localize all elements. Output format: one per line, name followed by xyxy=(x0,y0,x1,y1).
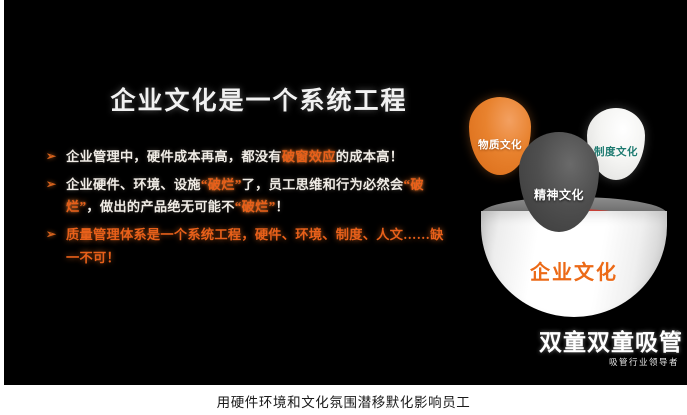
arrow-icon: ➢ xyxy=(46,176,56,193)
bullet-highlight: 破窗效应 xyxy=(282,149,336,164)
bullet-text-segment: ！ xyxy=(276,199,290,214)
arrow-icon: ➢ xyxy=(46,148,56,165)
bullet-text-segment: 企业管理中，硬件成本再高，都没有 xyxy=(66,149,282,164)
brand-logo: 双童双童吸管 ® 吸管行业领导者 xyxy=(539,330,679,376)
registered-trademark-icon: ® xyxy=(675,331,680,338)
slide-caption: 用硬件环境和文化氛围潜移默化影响员工 xyxy=(0,391,687,411)
bullet-highlight: “破烂” xyxy=(235,199,276,214)
droplet-label: 精神文化 xyxy=(534,161,584,204)
bullet-text-segment: ，做出的产品绝无可能不 xyxy=(86,199,234,214)
bullet-text-segment: 的成本高！ xyxy=(336,149,403,164)
slide-page: 企业文化是一个系统工程 ➢ 企业管理中，硬件成本再高，都没有破窗效应的成本高！ … xyxy=(0,0,687,415)
bullet-list: ➢ 企业管理中，硬件成本再高，都没有破窗效应的成本高！ ➢ 企业硬件、环境、设施… xyxy=(44,146,444,275)
logo-tagline: 吸管行业领导者 xyxy=(539,356,679,368)
bullet-highlight: “破烂” xyxy=(201,177,242,192)
list-item: ➢ 质量管理体系是一个系统工程，硬件、环境、制度、人文……缺一不可！ xyxy=(44,224,444,269)
list-item: ➢ 企业管理中，硬件成本再高，都没有破窗效应的成本高！ xyxy=(44,146,444,169)
page-title: 企业文化是一个系统工程 xyxy=(64,88,454,117)
bullet-text-segment: 质量管理体系是一个系统工程，硬件、环境、制度、人文……缺一不可！ xyxy=(66,227,444,265)
logo-brand-text: 双童双童吸管 xyxy=(539,330,679,354)
bullet-text-segment: 了，员工思维和行为必然会 xyxy=(242,177,404,192)
droplet-label: 制度文化 xyxy=(594,129,638,160)
arrow-icon: ➢ xyxy=(46,226,56,243)
presentation-slide: 企业文化是一个系统工程 ➢ 企业管理中，硬件成本再高，都没有破窗效应的成本高！ … xyxy=(4,0,687,385)
bowl-label: 企业文化 xyxy=(530,256,618,285)
list-item: ➢ 企业硬件、环境、设施“破烂”了，员工思维和行为必然会“破烂”，做出的产品绝无… xyxy=(44,174,444,219)
bullet-text-segment: 企业硬件、环境、设施 xyxy=(66,177,201,192)
droplet-label: 物质文化 xyxy=(478,120,522,153)
culture-diagram: 物质文化 制度文化 企业文化 精神文化 xyxy=(447,72,687,322)
